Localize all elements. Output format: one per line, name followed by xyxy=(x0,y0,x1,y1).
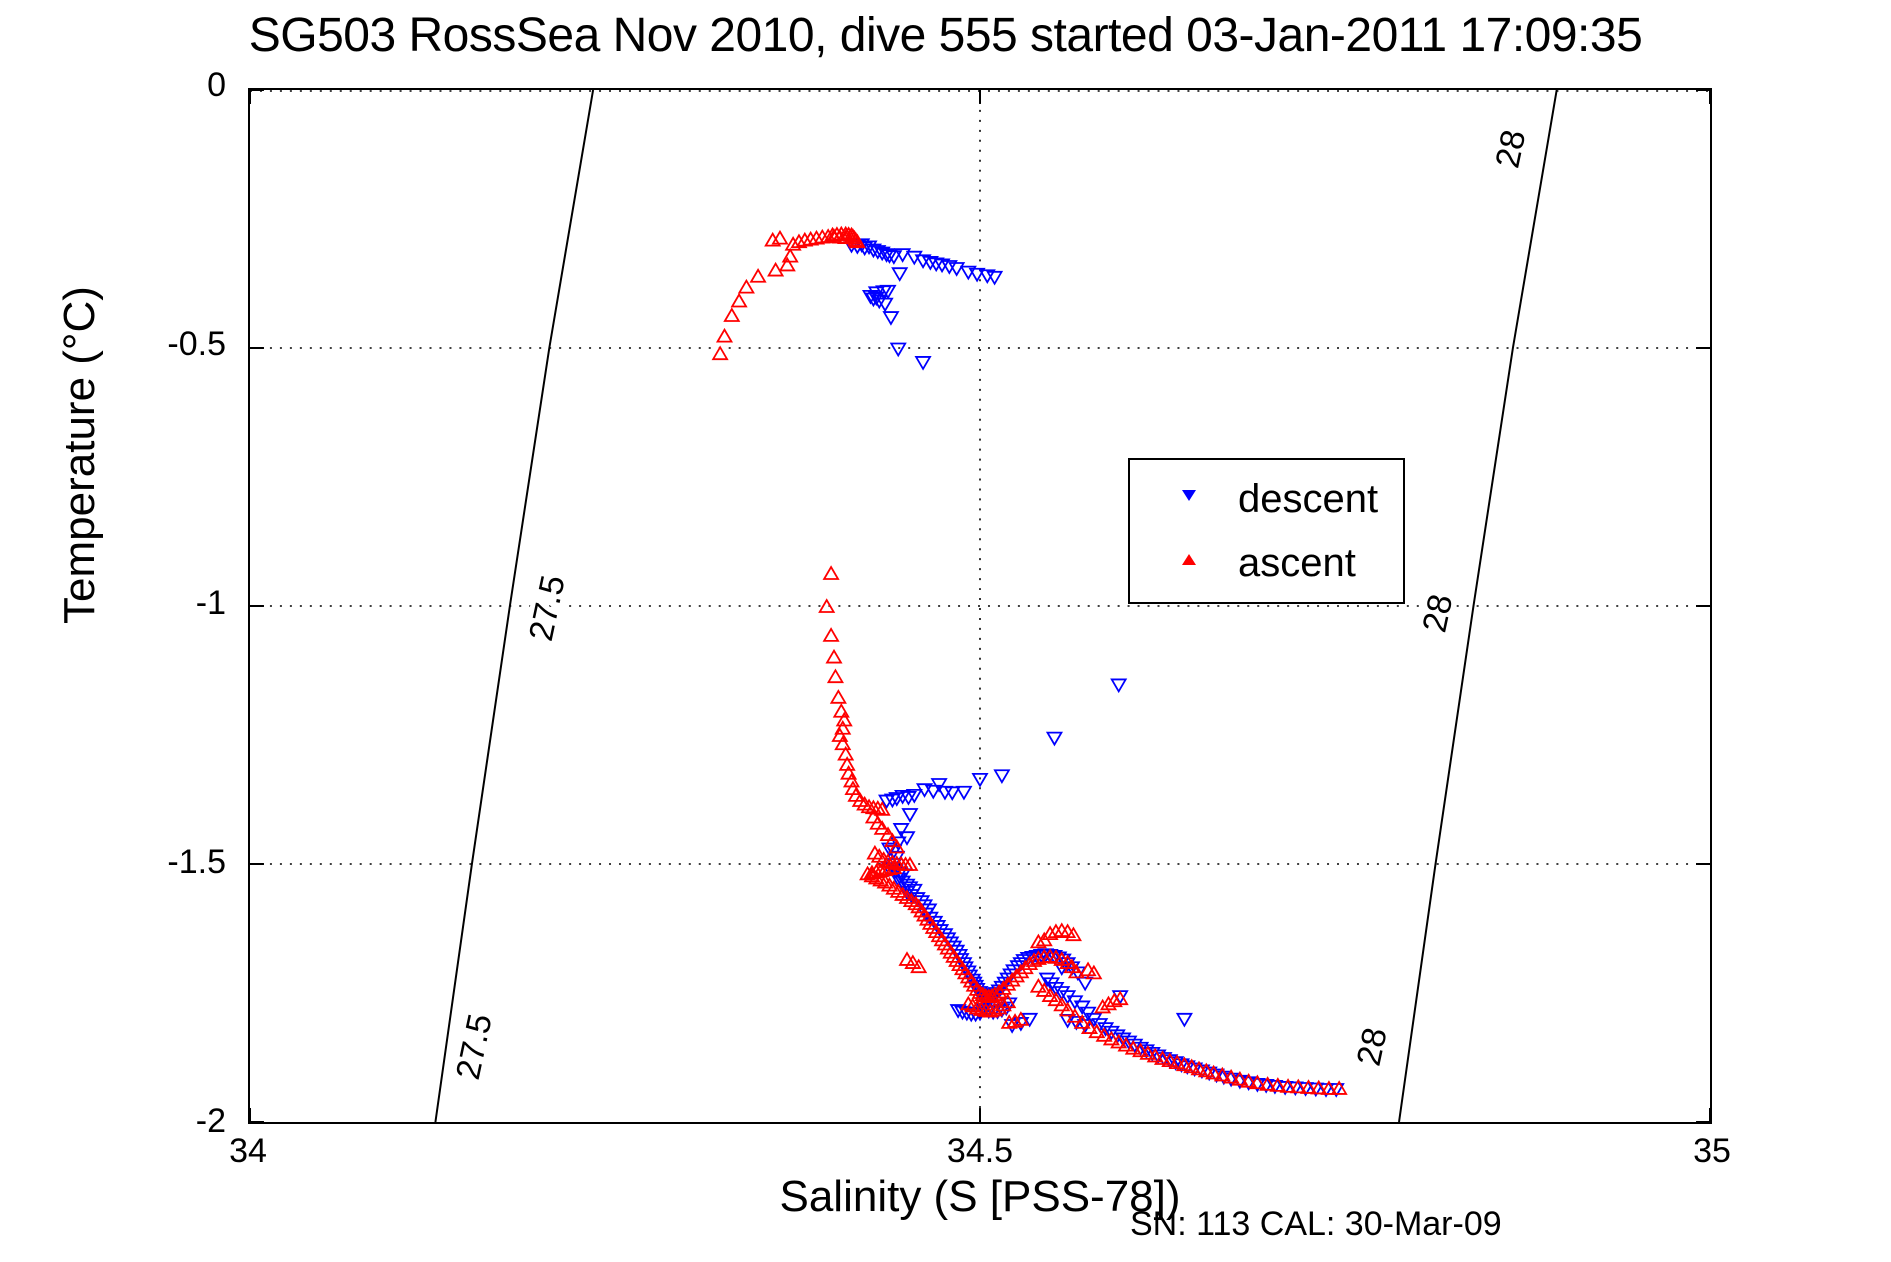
data-point xyxy=(1047,733,1061,745)
y-tick-label: 0 xyxy=(0,66,226,105)
plot-area: 27.527.527.527.5282828282828 xyxy=(248,88,1712,1124)
x-tick-label: 35 xyxy=(1652,1132,1772,1171)
y-tick-label: -1.5 xyxy=(0,843,226,882)
data-point xyxy=(732,295,746,307)
legend-label-descent: descent xyxy=(1238,476,1378,522)
legend-entry-descent: descent xyxy=(1130,476,1403,528)
y-axis-label: Temperature (°C) xyxy=(55,75,105,835)
data-point xyxy=(1177,1014,1191,1026)
figure-root: SG503 RossSea Nov 2010, dive 555 started… xyxy=(0,0,1891,1262)
data-point xyxy=(713,347,727,359)
x-tick-label: 34 xyxy=(188,1132,308,1171)
data-point xyxy=(827,651,841,663)
legend-entry-ascent: ascent xyxy=(1130,540,1403,592)
data-point xyxy=(1078,978,1092,990)
isopycnal-label: 28 xyxy=(1488,127,1533,172)
data-point xyxy=(1112,679,1126,691)
data-point xyxy=(725,309,739,321)
triangle-down-icon xyxy=(1182,490,1200,508)
x-tick-label: 34.5 xyxy=(920,1132,1040,1171)
plot-canvas: 27.527.527.527.5282828282828 xyxy=(250,90,1710,1122)
data-point xyxy=(780,258,794,270)
data-point xyxy=(824,567,838,579)
triangle-up-icon xyxy=(1182,554,1200,572)
data-point xyxy=(751,270,765,282)
data-point xyxy=(834,705,848,717)
data-point xyxy=(783,250,797,262)
data-point xyxy=(884,312,898,324)
data-point xyxy=(820,600,834,612)
data-point xyxy=(973,774,987,786)
legend-box[interactable]: descent ascent xyxy=(1128,458,1405,604)
data-point xyxy=(916,357,930,369)
y-tick-label: -1 xyxy=(0,584,226,623)
isopycnal-label: 27.5 xyxy=(522,572,573,644)
data-point xyxy=(824,629,838,641)
data-point xyxy=(893,268,907,280)
data-point xyxy=(995,770,1009,782)
isopycnal-label: 28 xyxy=(1350,1024,1395,1069)
data-point xyxy=(718,330,732,342)
isopycnal-label: 28 xyxy=(1415,591,1460,636)
legend-label-ascent: ascent xyxy=(1238,540,1356,586)
data-point xyxy=(828,670,842,682)
y-tick-label: -0.5 xyxy=(0,325,226,364)
data-point xyxy=(891,344,905,356)
data-point xyxy=(831,691,845,703)
sensor-footnote: SN: 113 CAL: 30-Mar-09 xyxy=(1130,1205,1502,1244)
data-point xyxy=(903,809,917,821)
data-point xyxy=(836,737,850,749)
chart-title: SG503 RossSea Nov 2010, dive 555 started… xyxy=(0,8,1891,63)
isopycnal-label: 27.5 xyxy=(449,1011,500,1083)
